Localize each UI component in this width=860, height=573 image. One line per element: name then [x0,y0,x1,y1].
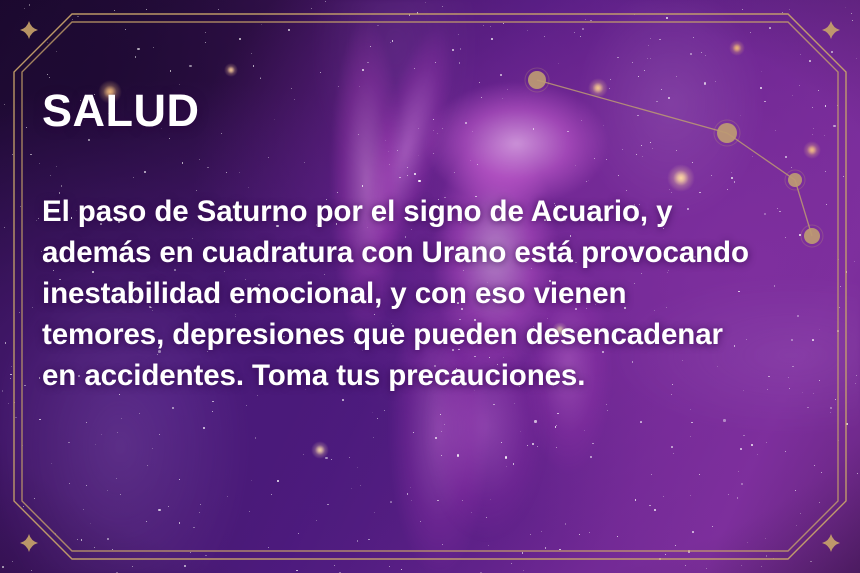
horoscope-body-text: El paso de Saturno por el signo de Acuar… [42,133,754,396]
page-title: SALUD [42,88,762,133]
horoscope-card: SALUD El paso de Saturno por el signo de… [0,0,860,573]
text-content: SALUD El paso de Saturno por el signo de… [42,88,762,396]
